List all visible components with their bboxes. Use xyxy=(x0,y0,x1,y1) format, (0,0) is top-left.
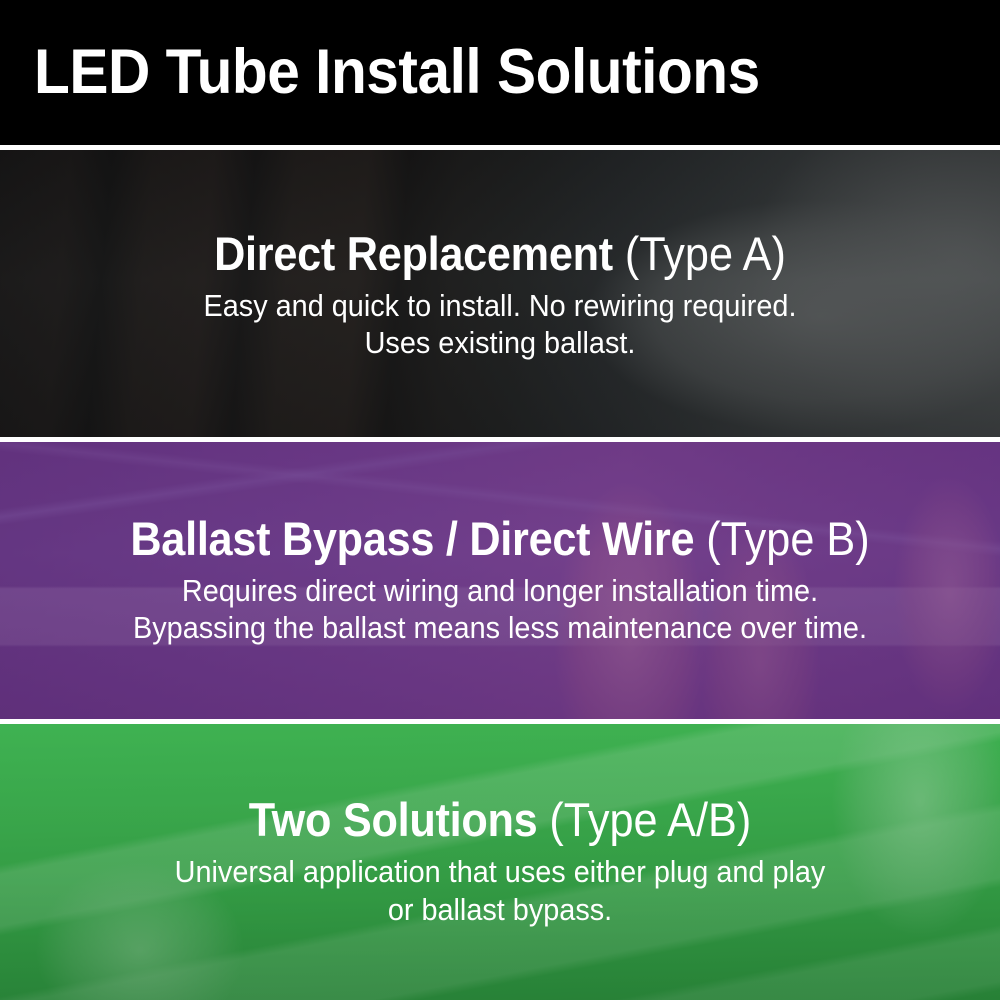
panel-type-b-heading-light: (Type B) xyxy=(706,512,869,565)
infographic-poster: LED Tube Install Solutions Direct Replac… xyxy=(0,0,1000,1000)
panel-type-a-heading-light: (Type A) xyxy=(625,227,786,280)
panel-type-b-text: Ballast Bypass / Direct Wire (Type B) Re… xyxy=(0,514,1000,647)
page-title: LED Tube Install Solutions xyxy=(34,41,760,104)
panel-type-ab-body: Universal application that uses either p… xyxy=(44,853,955,929)
panel-type-ab: Two Solutions (Type A/B) Universal appli… xyxy=(0,724,1000,1000)
panel-type-b-body-line-1: Requires direct wiring and longer instal… xyxy=(44,572,955,610)
panel-type-b-body-line-2: Bypassing the ballast means less mainten… xyxy=(44,609,955,647)
panel-type-a-heading: Direct Replacement (Type A) xyxy=(49,229,951,280)
panel-type-ab-heading: Two Solutions (Type A/B) xyxy=(49,795,951,846)
panel-type-b-heading-strong: Ballast Bypass / Direct Wire xyxy=(130,512,694,565)
panel-type-a-heading-strong: Direct Replacement xyxy=(214,227,613,280)
panel-type-ab-body-line-2: or ballast bypass. xyxy=(44,891,955,929)
panel-type-a-body: Easy and quick to install. No rewiring r… xyxy=(44,287,955,363)
panel-type-ab-text: Two Solutions (Type A/B) Universal appli… xyxy=(0,795,1000,928)
panel-type-a-body-line-1: Easy and quick to install. No rewiring r… xyxy=(44,287,955,325)
panel-type-ab-heading-strong: Two Solutions xyxy=(249,793,538,846)
panel-type-a-text: Direct Replacement (Type A) Easy and qui… xyxy=(0,229,1000,362)
panel-type-b-body: Requires direct wiring and longer instal… xyxy=(44,572,955,648)
panel-type-b: Ballast Bypass / Direct Wire (Type B) Re… xyxy=(0,442,1000,719)
panel-type-ab-body-line-1: Universal application that uses either p… xyxy=(44,853,955,891)
header-band: LED Tube Install Solutions xyxy=(0,0,1000,145)
panel-type-b-heading: Ballast Bypass / Direct Wire (Type B) xyxy=(49,514,951,565)
panel-type-a-body-line-2: Uses existing ballast. xyxy=(44,324,955,362)
panel-type-a: Direct Replacement (Type A) Easy and qui… xyxy=(0,150,1000,437)
panel-type-ab-heading-light: (Type A/B) xyxy=(549,793,751,846)
